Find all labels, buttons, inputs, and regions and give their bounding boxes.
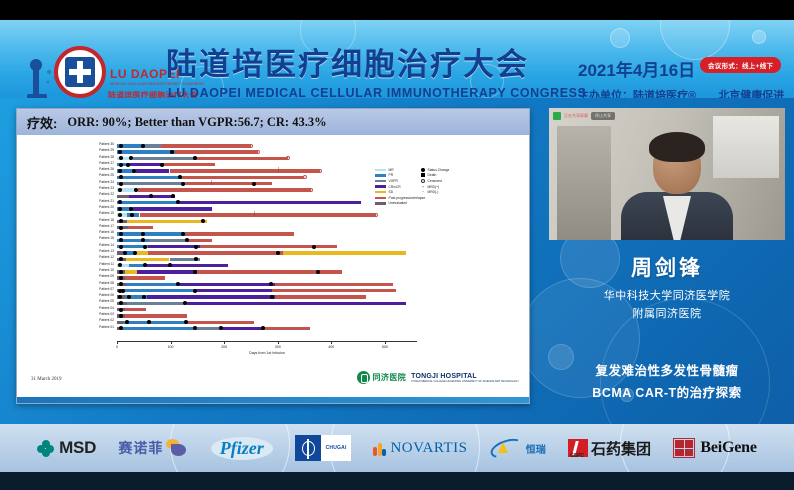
legend-swatch	[375, 191, 386, 193]
x-axis	[117, 341, 417, 342]
meeting-format-badge: 会议形式：线上+线下	[700, 57, 781, 73]
sponsor-logo-row: MSD 赛诺菲 Pfizer CHUGAI NOVARTIS 恒瑞	[0, 424, 794, 472]
plot-segment-CR_sCR	[223, 327, 264, 330]
plot-segment-CR_sCR	[147, 295, 275, 298]
marker-status-change	[142, 295, 146, 299]
legend-label: MR	[389, 168, 394, 172]
legend-label: VGPR	[389, 179, 398, 183]
plot-segment-post_progression_relapse	[188, 321, 253, 324]
letterbox-top	[0, 0, 794, 20]
x-tick-label: 100	[168, 345, 174, 349]
plot-row-label: Patient 13	[99, 249, 114, 253]
marker-censored	[286, 156, 290, 160]
sponsor-msd-label: MSD	[59, 438, 96, 458]
sponsor-pfizer-label: Pfizer	[211, 437, 273, 460]
plot-segment-CR_sCR	[129, 163, 164, 166]
marker-minus-icon: −	[421, 190, 425, 194]
plot-segment-post_progression_relapse	[188, 239, 212, 242]
plot-segment-post_progression_relapse	[125, 314, 187, 317]
legend-label: Censored	[428, 179, 442, 183]
tongji-hospital-logo: 同济医院 TONGJI HOSPITAL TONGJI MEDICAL COLL…	[357, 371, 519, 384]
marker-status-change	[126, 163, 130, 167]
plot-row-label: Patient 16	[99, 230, 114, 234]
legend-swatch	[375, 202, 386, 204]
marker-status-change	[127, 295, 131, 299]
share-status-label: 正在共享屏幕	[564, 113, 588, 119]
plot-row-label: Patient 07	[99, 287, 114, 291]
sponsor-pfizer[interactable]: Pfizer	[211, 437, 273, 460]
legend-response-column: MRPRVGPRCR/sCRSDPost-progression/relapse…	[375, 167, 425, 206]
plot-segment-post_progression_relapse	[175, 150, 258, 153]
plot-row: Patient 01	[117, 326, 417, 332]
marker-status-change	[119, 182, 123, 186]
sponsor-chugai-label: CHUGAI	[321, 435, 351, 461]
plot-segment-SD	[127, 220, 207, 223]
plot-segment-PR	[117, 150, 175, 153]
x-tick	[224, 341, 225, 344]
plot-segment-post_progression_relapse	[161, 144, 250, 147]
tongji-en-main: TONGJI HOSPITAL	[411, 373, 477, 380]
plot-segment-post_progression_relapse	[170, 169, 320, 172]
plot-segment-PR	[117, 176, 182, 179]
legend-swatch	[375, 197, 386, 199]
plot-row-label: Patient 12	[99, 255, 114, 259]
marker-status-change	[141, 238, 145, 242]
plot-segment-CR_sCR	[133, 207, 212, 210]
legend-label: MRD(-)	[428, 190, 439, 194]
plot-segment-post_progression_relapse	[275, 295, 366, 298]
marker-status-change	[160, 163, 164, 167]
marker-mrd: |	[278, 168, 279, 173]
plot-row-label: Patient 17	[99, 224, 114, 228]
x-tick	[171, 341, 172, 344]
plot-segment-post_progression_relapse	[164, 163, 215, 166]
speaker-video-tile[interactable]: 正在共享屏幕 停止共享	[549, 108, 785, 240]
chart-legend: MRPRVGPRCR/sCRSDPost-progression/relapse…	[375, 167, 525, 217]
speaker-affiliation-line1: 华中科技大学同济医学院	[549, 287, 785, 303]
plot-row-label: Patient 25	[99, 173, 114, 177]
plot-row-label: Patient 14	[99, 243, 114, 247]
marker-censored	[318, 169, 322, 173]
plot-segment-CR_sCR	[180, 283, 275, 286]
plot-row-label: Patient 08	[99, 281, 114, 285]
marker-status-change	[118, 207, 122, 211]
congress-date: 2021年4月16日	[578, 56, 695, 81]
sanofi-logo-icon	[166, 439, 188, 457]
plot-row-label: Patient 10	[99, 268, 114, 272]
marker-status-change	[185, 238, 189, 242]
x-tick-label: 300	[275, 345, 281, 349]
plot-segment-post_progression_relapse	[140, 213, 376, 216]
plot-row-label: Patient 11	[99, 262, 114, 266]
plot-segment-PR	[123, 327, 197, 330]
plot-row-label: Patient 05	[99, 299, 114, 303]
sponsor-hengrui[interactable]: 恒瑞	[490, 437, 546, 459]
marker-status-change	[184, 320, 188, 324]
organizer-line: 主办单位：陆道培医疗® 北京健康促进会	[578, 87, 794, 98]
congress-title-cn: 陆道培医疗细胞治疗大会	[166, 48, 529, 82]
marker-censored	[309, 188, 313, 192]
marker-status-change	[193, 289, 197, 293]
plot-segment-VGPR	[133, 157, 197, 160]
marker-status-change	[129, 207, 133, 211]
sponsor-hengrui-label: 恒瑞	[526, 441, 546, 456]
stop-share-button[interactable]: 停止共享	[591, 112, 615, 120]
decor-bubble	[610, 28, 630, 48]
marker-status-change	[119, 245, 123, 249]
plot-row-label: Patient 03	[99, 312, 114, 316]
presentation-stage: 疗效: ORR: 90%; Better than VGPR:56.7; CR:…	[0, 98, 794, 424]
plot-row-label: Patient 28	[99, 155, 114, 159]
congress-header-banner: LU DAOPEI MEDICAL CELLULAR IMMUNOTHERAPY…	[0, 20, 794, 98]
plot-segment-PR	[117, 232, 186, 235]
plot-segment-post_progression_relapse	[272, 289, 395, 292]
plot-segment-CR_sCR	[136, 169, 169, 172]
marker-status-change	[316, 270, 320, 274]
plot-segment-SD	[136, 251, 148, 254]
sponsor-novartis-label: NOVARTIS	[390, 440, 467, 457]
marker-square-icon	[421, 173, 425, 177]
slide-title-bar: 疗效: ORR: 90%; Better than VGPR:56.7; CR:…	[17, 109, 529, 135]
x-tick	[331, 341, 332, 344]
sponsor-cspc-sub: CSPC	[570, 453, 584, 459]
decor-bubble	[752, 30, 766, 44]
legend-swatch	[375, 180, 386, 182]
plot-segment-VGPR	[117, 182, 186, 185]
marker-status-change	[141, 144, 145, 148]
plot-row-label: Patient 29	[99, 148, 114, 152]
x-tick-label: 400	[328, 345, 334, 349]
talk-topic-line1: 复发难治性多发性骨髓瘤	[549, 360, 785, 379]
marker-status-change	[119, 163, 123, 167]
app-root: LU DAOPEI MEDICAL CELLULAR IMMUNOTHERAPY…	[0, 0, 794, 490]
slide-title-cn: 疗效:	[27, 113, 57, 132]
ludaopei-logo: LU DAOPEI MEDICAL CELLULAR IMMUNOTHERAPY…	[24, 44, 164, 98]
plot-segment-CR_sCR	[147, 264, 228, 267]
marker-plus-icon: +	[421, 185, 425, 189]
sponsor-beigene[interactable]: BeiGene	[673, 438, 756, 458]
legend-label: Unevaluated	[389, 201, 408, 205]
plot-segment-CR_sCR	[196, 289, 272, 292]
marker-status-change	[125, 320, 129, 324]
x-tick-label: 500	[382, 345, 388, 349]
share-active-icon	[553, 112, 561, 120]
plot-segment-post_progression_relapse	[186, 182, 273, 185]
plot-segment-SD	[283, 251, 406, 254]
plot-segment-post_progression_relapse	[186, 232, 294, 235]
plot-row-label: Patient 01	[99, 325, 114, 329]
slide-title-en: ORR: 90%; Better than VGPR:56.7; CR: 43.…	[67, 115, 326, 130]
legend-marker-column: Status ChangeDeathCensored+MRD(+)−MRD(-)	[421, 167, 449, 195]
congress-title-en: LU DAOPEI MEDICAL CELLULAR IMMUNOTHERAPY…	[168, 86, 587, 98]
x-tick	[117, 341, 118, 344]
novartis-logo-icon	[373, 440, 385, 456]
plot-segment-post_progression_relapse	[275, 283, 393, 286]
plot-segment-post_progression_relapse	[125, 276, 166, 279]
marker-status-change	[276, 251, 280, 255]
plot-row-label: Patient 18	[99, 218, 114, 222]
plot-segment-VGPR	[145, 144, 162, 147]
legend-label: CR/sCR	[389, 185, 401, 189]
tongji-name-cn: 同济医院	[373, 372, 407, 383]
legend-swatch	[375, 185, 386, 187]
plot-segment-VGPR	[127, 302, 187, 305]
plot-row-label: Patient 24	[99, 180, 114, 184]
legend-label: Status Change	[428, 168, 450, 172]
plot-segment-CR_sCR	[148, 245, 200, 248]
marker-status-change	[312, 245, 316, 249]
plot-segment-post_progression_relapse	[200, 245, 337, 248]
plot-segment-post_progression_relapse	[264, 327, 310, 330]
plot-row-label: Patient 21	[99, 199, 114, 203]
marker-status-change	[123, 251, 127, 255]
sponsor-novartis[interactable]: NOVARTIS	[373, 440, 467, 457]
x-tick	[278, 341, 279, 344]
x-tick	[385, 341, 386, 344]
speaker-name: 周剑锋	[549, 252, 785, 282]
marker-status-change	[193, 270, 197, 274]
beigene-seal-icon	[673, 438, 695, 458]
x-axis-label: Days from 1st Infusion	[117, 351, 417, 355]
marker-status-change	[119, 308, 123, 312]
plot-segment-post_progression_relapse	[197, 157, 288, 160]
sponsor-cspc-label: 石药集团	[591, 438, 651, 459]
plot-segment-PR	[117, 201, 180, 204]
plot-row-label: Patient 06	[99, 293, 114, 297]
x-tick-label: 0	[116, 345, 118, 349]
plot-segment-post_progression_relapse	[138, 188, 311, 191]
legend-label: Death	[428, 173, 437, 177]
tongji-name-en: TONGJI HOSPITAL TONGJI MEDICAL COLLEGE H…	[411, 373, 519, 383]
plot-segment-SD	[126, 258, 170, 261]
talk-topic-line2: BCMA CAR-T的治疗探索	[549, 382, 785, 401]
plot-segment-VGPR	[149, 239, 188, 242]
plot-row-label: Patient 09	[99, 274, 114, 278]
plot-row-label: Patient 30	[99, 142, 114, 146]
marker-status-change	[183, 301, 187, 305]
marker-status-change	[171, 194, 175, 198]
plot-segment-post_progression_relapse	[182, 176, 304, 179]
legend-swatch	[375, 174, 386, 176]
plot-segment-post_progression_relapse	[148, 251, 283, 254]
legend-label: PR	[389, 173, 394, 177]
legend-label: MRD(+)	[428, 185, 440, 189]
marker-mrd: |	[211, 181, 212, 186]
plot-segment-CR_sCR	[137, 270, 197, 273]
sponsor-sanofi-label: 赛诺菲	[118, 438, 163, 458]
marker-censored	[303, 175, 307, 179]
marker-mrd: |	[254, 212, 255, 217]
plot-segment-post_progression_relapse	[197, 270, 342, 273]
x-tick-label: 200	[221, 345, 227, 349]
marker-status-change	[141, 232, 145, 236]
legend-item: Unevaluated	[375, 201, 425, 207]
slide-footer-bar	[17, 397, 529, 403]
marker-open-circle-icon	[421, 179, 425, 183]
marker-status-change	[252, 182, 256, 186]
marker-status-change	[143, 245, 147, 249]
plot-segment-CR_sCR	[187, 302, 407, 305]
sponsor-msd[interactable]: MSD	[37, 438, 96, 458]
sponsor-sanofi[interactable]: 赛诺菲	[118, 438, 188, 458]
sponsor-bar: MSD 赛诺菲 Pfizer CHUGAI NOVARTIS 恒瑞	[0, 424, 794, 472]
legend-swatch	[375, 169, 386, 171]
legend-item: −MRD(-)	[421, 189, 449, 195]
plot-row-label: Patient 15	[99, 236, 114, 240]
sponsor-chugai[interactable]: CHUGAI	[295, 435, 351, 461]
plot-segment-SD	[125, 270, 138, 273]
organizer-primary: 主办单位：陆道培医疗®	[578, 90, 696, 98]
plot-row-label: Patient 20	[99, 205, 114, 209]
marker-dot-icon	[421, 168, 425, 172]
plot-segment-PR	[126, 283, 181, 286]
chugai-logo-icon	[295, 435, 321, 461]
plot-segment-unevaluated	[117, 195, 129, 198]
msd-logo-icon	[37, 440, 54, 457]
tongji-mark-icon	[357, 371, 370, 384]
plot-rows-container: Patient 30Patient 29Patient 28Patient 27…	[117, 143, 417, 339]
decor-bubble	[660, 20, 730, 60]
plot-segment-PR	[123, 321, 188, 324]
sponsor-beigene-label: BeiGene	[700, 439, 756, 457]
hengrui-logo-icon	[490, 437, 524, 459]
plot-segment-CR_sCR	[180, 201, 361, 204]
speaker-info-panel: 周剑锋 华中科技大学同济医学院 附属同济医院 复发难治性多发性骨髓瘤 BCMA …	[549, 250, 785, 420]
sponsor-cspc[interactable]: CSPC 石药集团	[568, 438, 651, 459]
screen-share-toolbar[interactable]: 正在共享屏幕 停止共享	[553, 111, 615, 120]
marker-censored	[256, 150, 260, 154]
legend-label: Post-progression/relapse	[389, 196, 426, 200]
video-background-door	[557, 126, 611, 240]
speaker-affiliation-line2: 附属同济医院	[549, 305, 785, 321]
plot-segment-PR	[125, 289, 197, 292]
video-person-hair	[649, 132, 705, 162]
slide-date-stamp: 31 March 2019	[31, 377, 62, 382]
legend-label: SD	[389, 190, 394, 194]
video-background-window	[713, 116, 779, 178]
swimmer-plot-chart: Patient 30Patient 29Patient 28Patient 27…	[17, 135, 530, 375]
marker-censored	[249, 144, 253, 148]
plot-row-label: Patient 26	[99, 167, 114, 171]
shared-slide[interactable]: 疗效: ORR: 90%; Better than VGPR:56.7; CR:…	[16, 108, 530, 404]
plot-segment-post_progression_relapse	[125, 308, 147, 311]
plot-row-label: Patient 27	[99, 161, 114, 165]
plot-row-label: Patient 04	[99, 306, 114, 310]
tongji-en-sub: TONGJI MEDICAL COLLEGE HUAZHONG UNIVERSI…	[411, 380, 519, 383]
marker-status-change	[194, 245, 198, 249]
letterbox-bottom	[0, 472, 794, 490]
plot-row-label: Patient 02	[99, 318, 114, 322]
marker-status-change	[119, 226, 123, 230]
plot-row-label: Patient 23	[99, 186, 114, 190]
plot-segment-post_progression_relapse	[128, 226, 153, 229]
plot-row-label: Patient 19	[99, 211, 114, 215]
plot-row-label: Patient 22	[99, 192, 114, 196]
logo-cross-emblem-icon	[54, 46, 106, 98]
